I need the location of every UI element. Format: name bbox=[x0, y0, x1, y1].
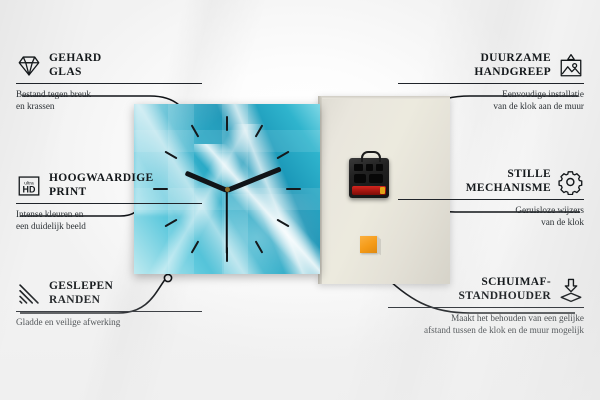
mechanism-slot bbox=[354, 174, 366, 183]
feature-divider bbox=[398, 83, 584, 84]
battery-terminal bbox=[380, 187, 385, 194]
clock-second-hand bbox=[226, 190, 228, 254]
feature-divider bbox=[398, 199, 584, 200]
clock-center-hub bbox=[225, 187, 230, 192]
feature-description: Maakt het behouden van een gelijke afsta… bbox=[388, 312, 584, 336]
gear-icon bbox=[558, 169, 584, 195]
feature-stille-mechanisme: STILLE MECHANISME Geruisloze wijzers van… bbox=[398, 168, 584, 228]
clock-tick-4 bbox=[276, 219, 289, 228]
feature-description: Geruisloze wijzers van de klok bbox=[398, 204, 584, 228]
feature-divider bbox=[388, 307, 584, 308]
ultra-hd-icon: ultra HD bbox=[16, 173, 42, 199]
feature-title: GEHARD GLAS bbox=[49, 52, 102, 79]
feature-hoogwaardige-print: ultra HD HOOGWAARDIGE PRINT Intense kleu… bbox=[16, 172, 202, 232]
svg-text:HD: HD bbox=[23, 184, 36, 194]
feature-description: Intense kleuren en een duidelijk beeld bbox=[16, 208, 202, 232]
mechanism-slot bbox=[376, 164, 383, 171]
feature-duurzame-handgreep: DUURZAME HANDGREEP Eenvoudige installati… bbox=[398, 52, 584, 112]
feature-title: HOOGWAARDIGE PRINT bbox=[49, 172, 154, 199]
mechanism-slot bbox=[369, 174, 383, 183]
feature-title: GESLEPEN RANDEN bbox=[49, 280, 113, 307]
clock-tick-5 bbox=[255, 240, 264, 253]
feature-divider bbox=[16, 311, 202, 312]
feature-title: DUURZAME HANDGREEP bbox=[474, 52, 551, 79]
feature-divider bbox=[16, 203, 202, 204]
feature-schuimaf-standhouder: SCHUIMAF- STANDHOUDER Maakt het behouden… bbox=[388, 276, 584, 336]
clock-tick-3 bbox=[286, 188, 301, 190]
feature-gehard-glas: GEHARD GLAS Bestand tegen breuk en krass… bbox=[16, 52, 202, 112]
feature-title: SCHUIMAF- STANDHOUDER bbox=[459, 276, 551, 303]
foam-spacer-side bbox=[377, 237, 381, 255]
clock-mechanism bbox=[349, 158, 389, 198]
battery bbox=[352, 186, 386, 195]
feature-geslepen-randen: GESLEPEN RANDEN Gladde en veilige afwerk… bbox=[16, 280, 202, 328]
press-down-pad-icon bbox=[558, 277, 584, 303]
picture-hanger-icon bbox=[558, 53, 584, 79]
feature-description: Bestand tegen breuk en krassen bbox=[16, 88, 202, 112]
feature-divider bbox=[16, 83, 202, 84]
feature-title: STILLE MECHANISME bbox=[466, 168, 551, 195]
foam-spacer-pad bbox=[360, 236, 377, 253]
product-infographic: GEHARD GLAS Bestand tegen breuk en krass… bbox=[0, 0, 600, 400]
feature-description: Eenvoudige installatie van de klok aan d… bbox=[398, 88, 584, 112]
clock-tick-12 bbox=[226, 116, 228, 131]
hanger-hook bbox=[361, 151, 381, 162]
mechanism-slot bbox=[366, 164, 373, 171]
mechanism-slot bbox=[354, 164, 363, 171]
glass-reflection bbox=[134, 130, 320, 152]
diamond-icon bbox=[16, 53, 42, 79]
feature-description: Gladde en veilige afwerking bbox=[16, 316, 202, 328]
diagonal-lines-icon bbox=[16, 281, 42, 307]
